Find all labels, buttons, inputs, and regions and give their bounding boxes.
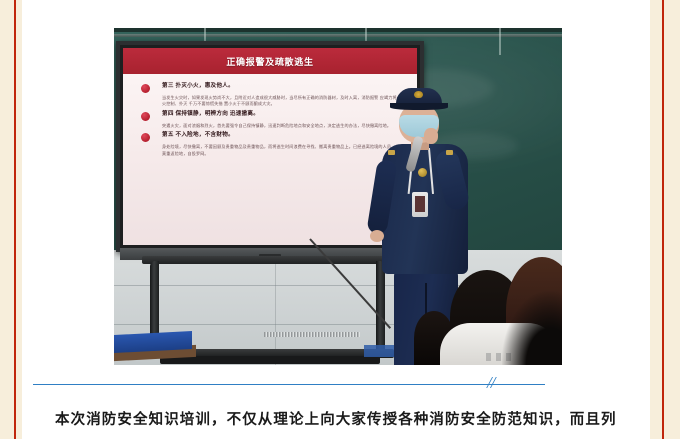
bullet-dot-icon [141,112,150,121]
left-decor-band [0,0,22,439]
article-caption: 本次消防安全知识培训，不仅从理论上向大家传授各种消防安全防范知识，而且列 [55,408,655,429]
bullet-dot-icon [141,84,150,93]
uniform-cap-brim [390,103,448,110]
slide-bullet: 第三 扑灭小火，惠及他人。 当发生火灾时，如果发现火势尚不大，且附近对人造成很大… [137,83,403,108]
cap-emblem-icon [414,91,423,98]
av-cart-base [160,356,380,364]
photo-scene: 正确报警及疏散逃生 第三 扑灭小火，惠及他人。 当发生火灾时，如果发现火势尚不大… [114,28,562,365]
presenter-hand-right [424,128,438,144]
photo-vignette [502,291,562,365]
av-cart-top [142,256,394,264]
slide-bullet: 第五 不入险地，不含财物。 身处险境，尽快撤离，不要因顾及贵重物品及贵重物品，而… [137,132,403,157]
slide-header: 正确报警及疏散逃生 [123,48,417,74]
microphone-head [418,168,427,177]
slide-bullet: 第四 保持镇静，明辨方向 迅速撤离。 突遇火灾，面对浓烟和烈火，首先要强令自己保… [137,111,403,129]
blackboard-rail [114,34,562,37]
section-divider [33,384,545,385]
av-cart-vent [264,332,360,337]
right-decor-band [650,0,680,439]
divider-slash-marker: // [487,373,494,393]
rank-insignia-icon [388,150,395,155]
blackboard-frame [114,28,562,32]
id-badge-photo [415,196,425,212]
right-decor-rule [662,0,664,439]
rank-insignia-icon [446,150,453,155]
left-decor-rule [14,0,16,439]
presenter-hand-left [370,230,384,242]
slide-title: 正确报警及疏散逃生 [226,55,313,68]
article-page: 正确报警及疏散逃生 第三 扑灭小火，惠及他人。 当发生火灾时，如果发现火势尚不大… [0,0,680,439]
bullet-dot-icon [141,133,150,142]
training-photo: 正确报警及疏散逃生 第三 扑灭小火，惠及他人。 当发生火灾时，如果发现火势尚不大… [114,28,562,365]
